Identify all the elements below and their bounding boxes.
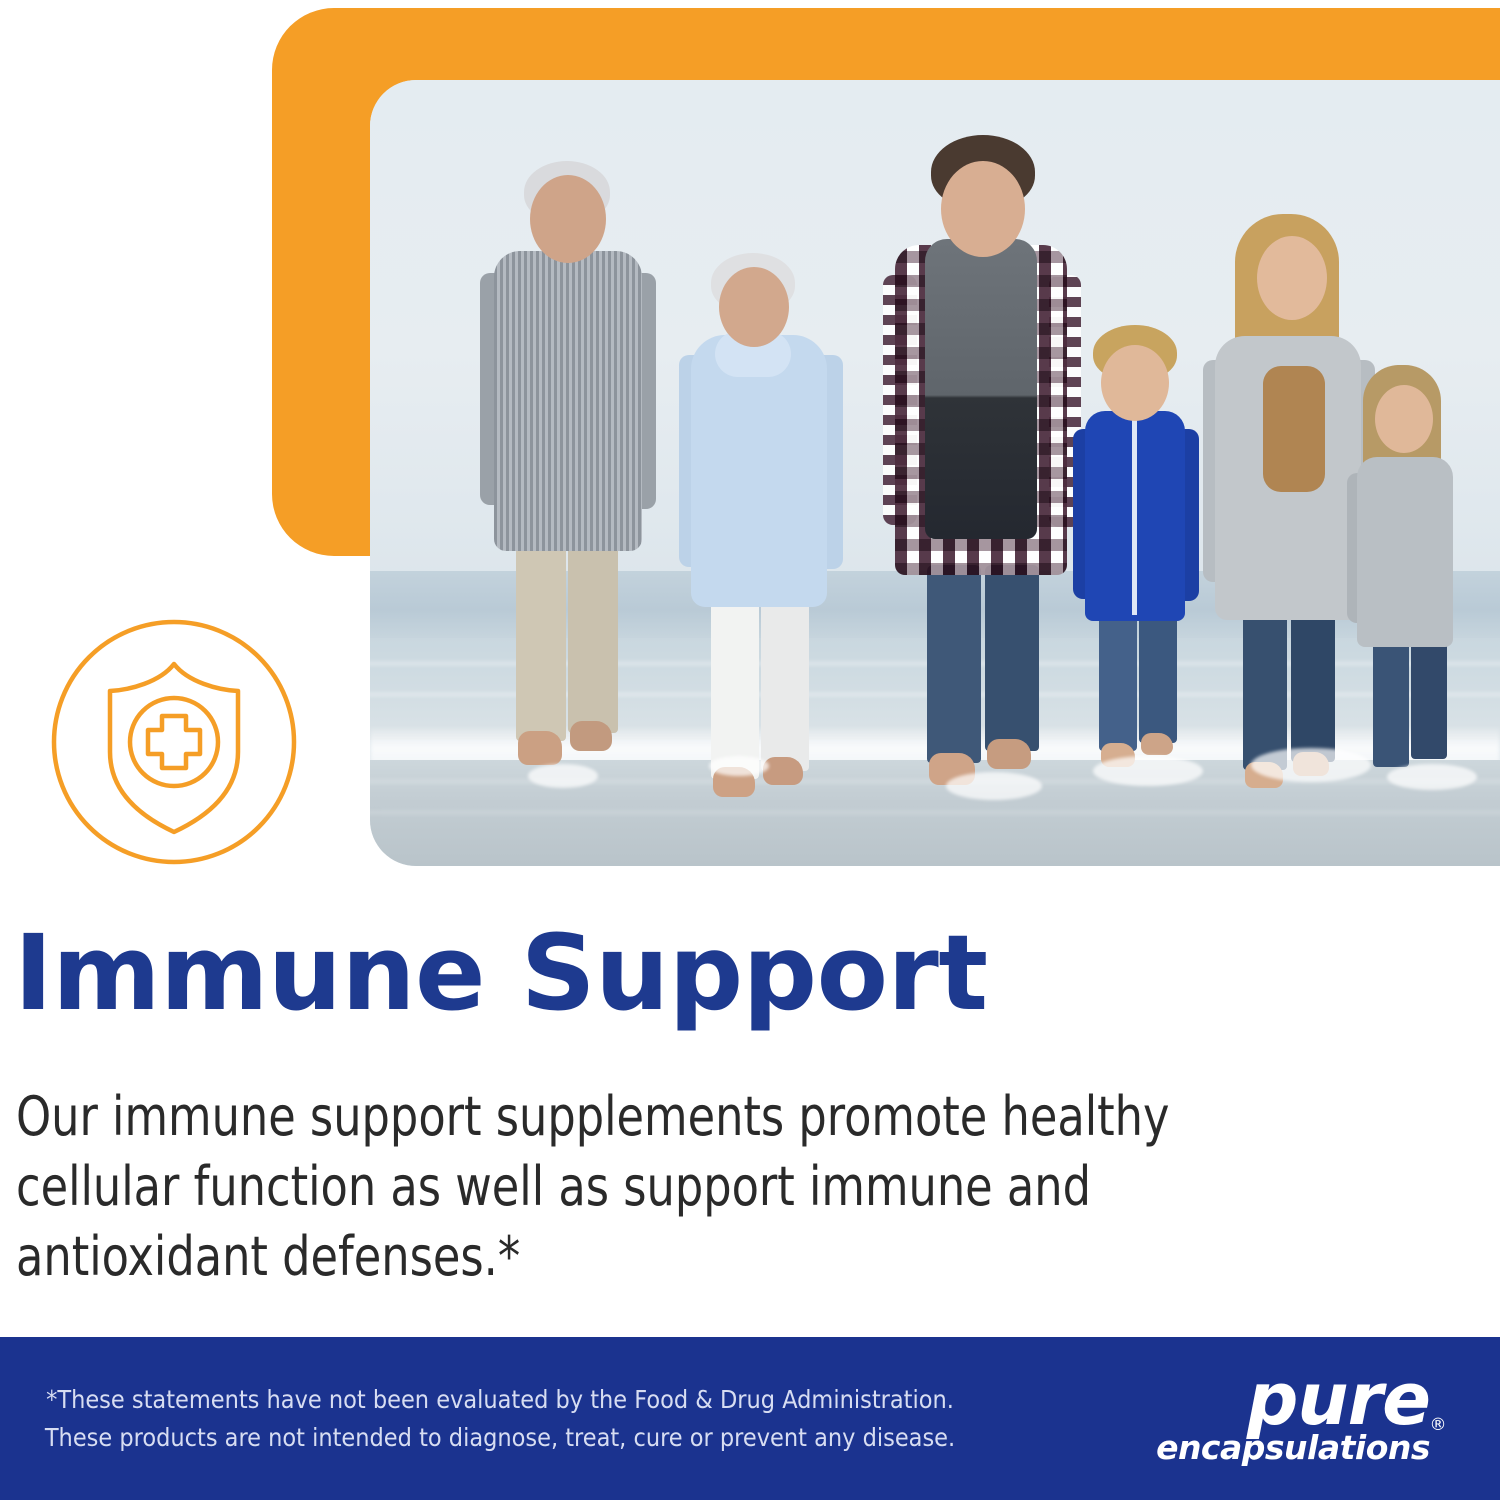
immune-shield-badge [48,616,300,868]
scarf [1263,366,1325,492]
leg [1243,612,1287,770]
figure-girl [1347,365,1467,795]
figure-father [879,135,1084,795]
leg [1139,613,1177,743]
water-splash [528,764,598,788]
torso [1357,457,1453,647]
leg [1373,641,1409,767]
figure-grandfather [472,155,662,795]
shield-medical-cross-icon [48,616,300,868]
page-title: Immune Support [14,921,988,1025]
head [1101,345,1169,421]
hoodie-zipper [1132,415,1137,615]
figure-grandmother [675,195,845,795]
hero-photo [370,80,1500,866]
figure-boy [1071,325,1201,795]
brand-logo-subtitle-text: encapsulations [1156,1428,1430,1467]
brand-logo-name: pure [1130,1369,1430,1431]
brand-logo: pure encapsulations ® [1130,1369,1430,1473]
leg [761,599,809,771]
water-splash [1387,764,1477,790]
leg [711,599,759,779]
water-ripple [370,811,1500,814]
head [1257,236,1327,320]
leg [1411,641,1447,759]
foot [1141,733,1173,755]
leg [1291,612,1335,762]
water-splash [946,772,1042,800]
registered-trademark-icon: ® [1430,1417,1447,1434]
water-splash [1093,756,1203,786]
torso [494,251,642,551]
quilted-vest [925,239,1037,539]
footer-bar: *These statements have not been evaluate… [0,1337,1500,1500]
foot [987,739,1031,769]
leg [985,565,1039,751]
head [530,175,606,263]
head [941,161,1025,257]
foot [763,757,803,785]
fda-disclaimer-line-1: *These statements have not been evaluate… [40,1381,960,1419]
leg [568,541,618,733]
foot [570,721,612,751]
leg [927,565,981,763]
fda-disclaimer-line-2: These products are not intended to diagn… [40,1419,960,1457]
photo-scene [370,80,1500,866]
water-splash [1251,748,1371,782]
fda-disclaimer: *These statements have not been evaluate… [40,1381,960,1457]
leg [516,541,566,741]
body-copy: Our immune support supplements promote h… [16,1082,1240,1293]
leg [1099,613,1137,751]
foot [518,731,562,765]
water-splash [709,756,769,776]
marketing-banner: Immune Support Our immune support supple… [0,0,1500,1500]
head [719,267,789,347]
brand-logo-subtitle: encapsulations ® [1130,1431,1430,1464]
